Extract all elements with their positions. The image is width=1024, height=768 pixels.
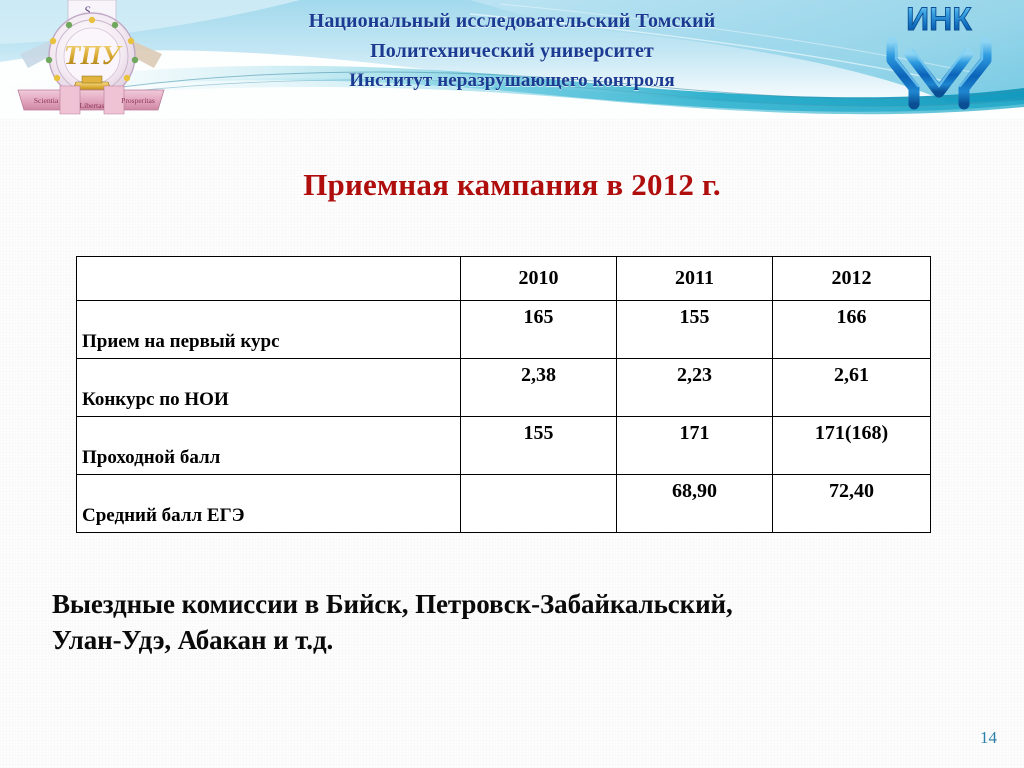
row-label-passing-score: Проходной балл	[77, 417, 461, 475]
table-column-header-2012: 2012	[773, 257, 931, 301]
table-column-header-2011: 2011	[617, 257, 773, 301]
page-title: Приемная кампания в 2012 г.	[0, 166, 1024, 204]
cell-passing-score-2011: 171	[617, 417, 773, 475]
ink-abbreviation: ИНК	[906, 1, 972, 37]
row-label-competition: Конкурс по НОИ	[77, 359, 461, 417]
table-corner-cell	[77, 257, 461, 301]
table-header-row: 2010 2011 2012	[77, 257, 931, 301]
slide: S	[0, 0, 1024, 768]
cell-average-ege-2012: 72,40	[773, 475, 931, 533]
ink-emblem-logo: ИНК	[866, 0, 1012, 112]
table-row: Средний балл ЕГЭ 68,90 72,40	[77, 475, 931, 533]
slide-header: S	[0, 0, 1024, 118]
table-row: Проходной балл 155 171 171(168)	[77, 417, 931, 475]
tpu-motto-word-2: Libertas	[80, 101, 105, 110]
bottom-note: Выездные комиссии в Бийск, Петровск-Заба…	[52, 586, 972, 658]
tpu-monogram: ТПУ	[64, 40, 123, 70]
bottom-note-line-2: Улан-Удэ, Абакан и т.д.	[52, 622, 972, 658]
tpu-motto-word-1: Scientia	[34, 96, 59, 105]
cell-competition-2011: 2,23	[617, 359, 773, 417]
cell-admission-2012: 166	[773, 301, 931, 359]
admission-campaign-table: 2010 2011 2012 Прием на первый курс 165 …	[76, 256, 931, 533]
cell-average-ege-2010	[461, 475, 617, 533]
row-label-admission: Прием на первый курс	[77, 301, 461, 359]
cell-competition-2012: 2,61	[773, 359, 931, 417]
cell-average-ege-2011: 68,90	[617, 475, 773, 533]
cell-passing-score-2010: 155	[461, 417, 617, 475]
tpu-emblem-logo: S	[12, 0, 170, 118]
cell-competition-2010: 2,38	[461, 359, 617, 417]
page-number: 14	[980, 728, 997, 748]
cell-passing-score-2012: 171(168)	[773, 417, 931, 475]
table-row: Прием на первый курс 165 155 166	[77, 301, 931, 359]
cell-admission-2010: 165	[461, 301, 617, 359]
table-column-header-2010: 2010	[461, 257, 617, 301]
bottom-note-line-1: Выездные комиссии в Бийск, Петровск-Заба…	[52, 586, 972, 622]
row-label-average-ege: Средний балл ЕГЭ	[77, 475, 461, 533]
table-row: Конкурс по НОИ 2,38 2,23 2,61	[77, 359, 931, 417]
tpu-motto-word-3: Prosperitas	[121, 96, 155, 105]
cell-admission-2011: 155	[617, 301, 773, 359]
